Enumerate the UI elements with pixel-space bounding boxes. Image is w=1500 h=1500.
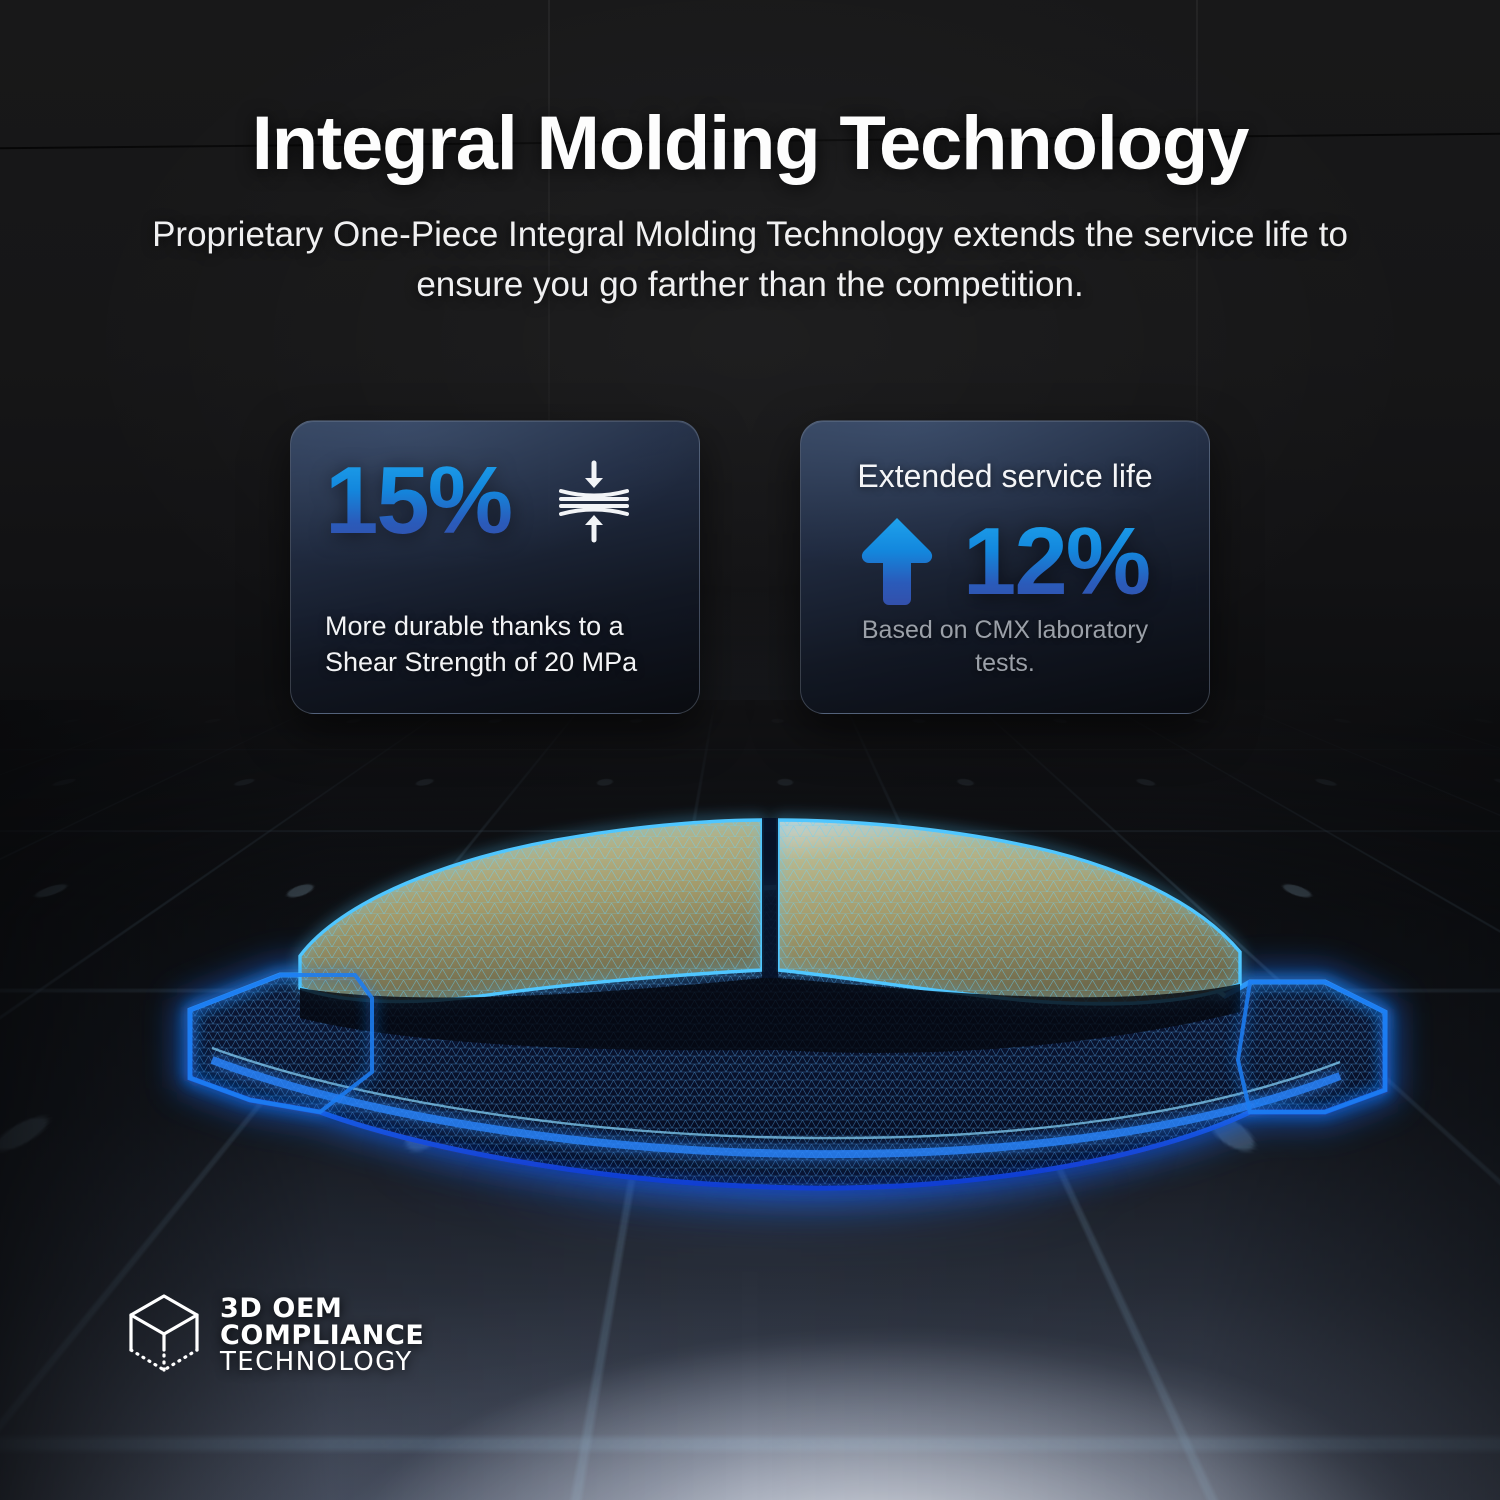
service-life-heading: Extended service life bbox=[857, 457, 1152, 495]
up-arrow-icon bbox=[861, 515, 933, 607]
service-life-footnote: Based on CMX laboratory tests. bbox=[835, 614, 1175, 679]
durability-card: 15% bbox=[290, 420, 700, 714]
infographic-canvas: Integral Molding Technology Proprietary … bbox=[0, 0, 1500, 1500]
brand-logo: 3D OEM COMPLIANCE TECHNOLOGY bbox=[126, 1292, 424, 1378]
durability-description-line1: More durable thanks to a bbox=[325, 608, 665, 645]
page-subtitle: Proprietary One-Piece Integral Molding T… bbox=[120, 210, 1380, 311]
brake-pad-floor-reflection bbox=[320, 1180, 1270, 1320]
brake-pad-wireframe-render bbox=[150, 760, 1380, 1240]
service-life-metric-value: 12% bbox=[963, 516, 1149, 607]
durability-metric-row: 15% bbox=[325, 455, 665, 546]
service-life-card: Extended service life bbox=[800, 420, 1210, 714]
page-title: Integral Molding Technology bbox=[0, 104, 1500, 184]
service-life-metric-row: 12% bbox=[861, 515, 1149, 607]
compression-arrows-icon bbox=[555, 458, 633, 544]
durability-metric-value: 15% bbox=[325, 455, 511, 546]
logo-line-3: TECHNOLOGY bbox=[220, 1349, 424, 1375]
logo-line-1: 3D OEM bbox=[220, 1295, 424, 1322]
header: Integral Molding Technology Proprietary … bbox=[0, 0, 1500, 311]
brand-logo-text: 3D OEM COMPLIANCE TECHNOLOGY bbox=[220, 1295, 424, 1375]
stat-cards-row: 15% bbox=[0, 420, 1500, 714]
wireframe-cube-icon bbox=[126, 1292, 202, 1378]
logo-line-2: COMPLIANCE bbox=[220, 1322, 424, 1349]
durability-description: More durable thanks to a Shear Strength … bbox=[325, 608, 665, 681]
durability-description-line2: Shear Strength of 20 MPa bbox=[325, 644, 665, 681]
